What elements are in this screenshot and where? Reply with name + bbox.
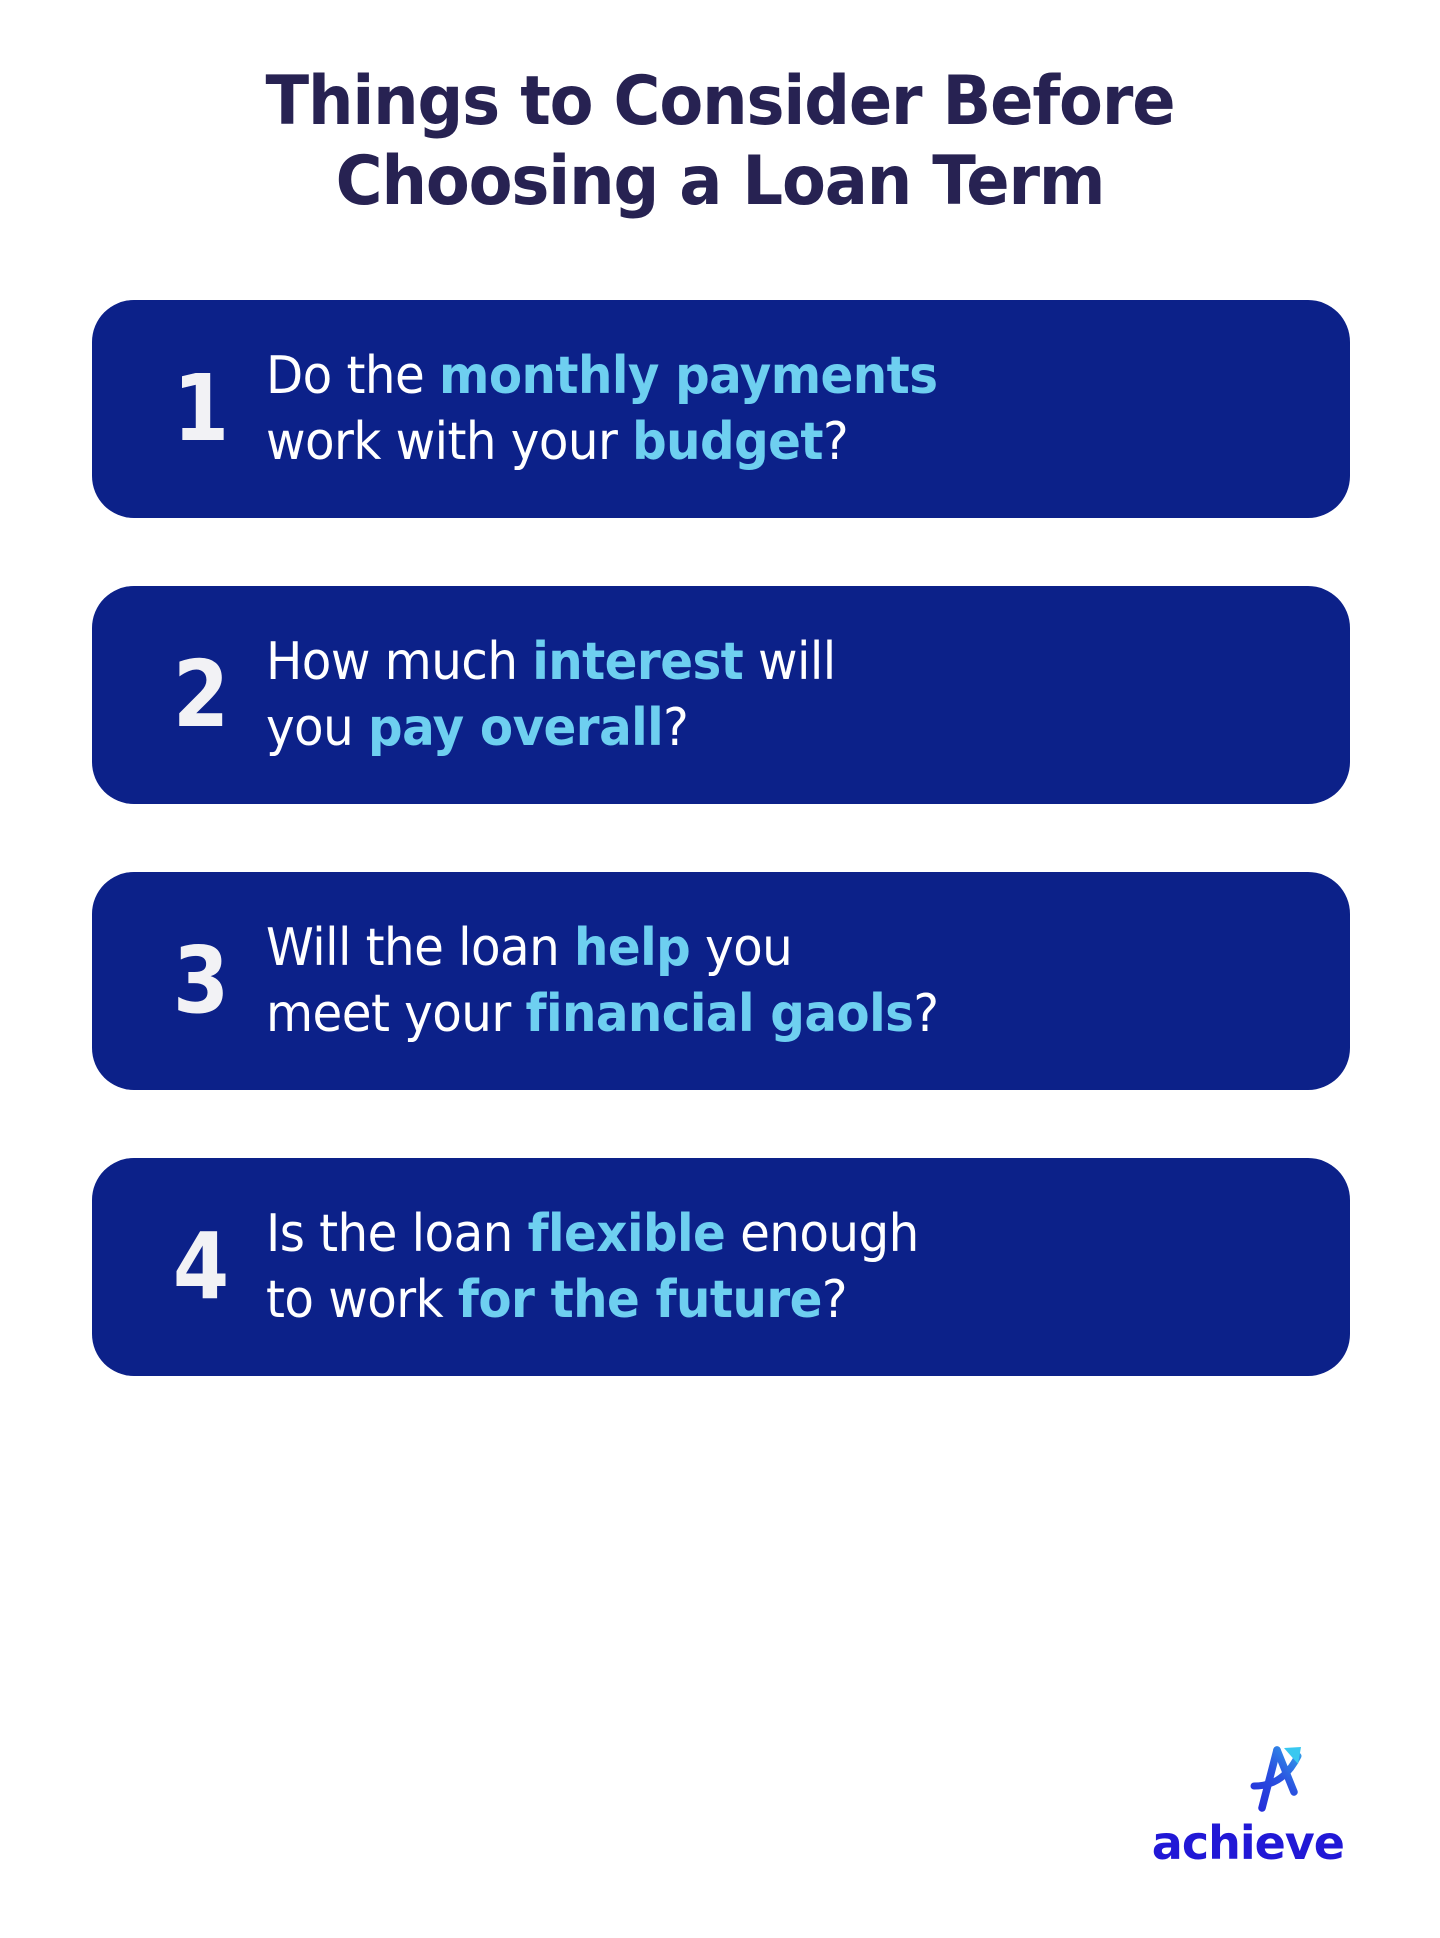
- plain-phrase: Is the loan: [266, 1204, 528, 1264]
- achieve-wordmark: achieve: [1152, 1820, 1344, 1866]
- plain-phrase: Will the loan: [266, 918, 574, 978]
- plain-phrase: How much: [266, 632, 532, 692]
- card-number: 1: [144, 363, 258, 455]
- plain-phrase: you: [266, 698, 368, 758]
- plain-phrase: will: [743, 632, 835, 692]
- card-question-text: Is the loan flexible enoughto work for t…: [266, 1201, 1250, 1334]
- card-text-line-1: Will the loan help you: [266, 915, 1250, 982]
- card-text-line-2: to work for the future?: [266, 1267, 1250, 1334]
- card-number: 2: [144, 649, 258, 741]
- consideration-card: 2How much interest willyou pay overall?: [92, 586, 1350, 804]
- card-question-text: How much interest willyou pay overall?: [266, 629, 1250, 762]
- card-text-line-1: Is the loan flexible enough: [266, 1201, 1250, 1268]
- card-text-line-2: meet your financial gaols?: [266, 981, 1250, 1048]
- card-number: 4: [144, 1221, 258, 1313]
- highlighted-phrase: budget: [632, 412, 823, 472]
- consideration-card: 3Will the loan help youmeet your financi…: [92, 872, 1350, 1090]
- brand-logo: achieve: [1152, 1736, 1344, 1866]
- infographic-page: Things to Consider Before Choosing a Loa…: [0, 0, 1440, 1938]
- plain-phrase: meet your: [266, 984, 525, 1044]
- card-text-line-1: Do the monthly payments: [266, 343, 1250, 410]
- plain-phrase: enough: [725, 1204, 918, 1264]
- highlighted-phrase: flexible: [528, 1204, 726, 1264]
- plain-phrase: to work: [266, 1270, 458, 1330]
- highlighted-phrase: for the future: [458, 1270, 822, 1330]
- highlighted-phrase: interest: [532, 632, 743, 692]
- plain-phrase: ?: [822, 1270, 847, 1330]
- achieve-a-arrow-icon: [1232, 1736, 1310, 1814]
- title-line-1: Things to Consider Before: [165, 62, 1274, 142]
- plain-phrase: you: [690, 918, 792, 978]
- highlighted-phrase: monthly payments: [439, 346, 937, 406]
- plain-phrase: Do the: [266, 346, 439, 406]
- highlighted-phrase: financial gaols: [525, 984, 913, 1044]
- card-text-line-2: you pay overall?: [266, 695, 1250, 762]
- consideration-card: 1Do the monthly paymentswork with your b…: [92, 300, 1350, 518]
- plain-phrase: ?: [663, 698, 688, 758]
- card-question-text: Do the monthly paymentswork with your bu…: [266, 343, 1250, 476]
- card-text-line-1: How much interest will: [266, 629, 1250, 696]
- consideration-card-list: 1Do the monthly paymentswork with your b…: [0, 300, 1440, 1376]
- card-text-line-2: work with your budget?: [266, 409, 1250, 476]
- consideration-card: 4Is the loan flexible enoughto work for …: [92, 1158, 1350, 1376]
- highlighted-phrase: pay overall: [368, 698, 663, 758]
- page-title: Things to Consider Before Choosing a Loa…: [0, 0, 1440, 222]
- card-number: 3: [144, 935, 258, 1027]
- title-heading: Things to Consider Before Choosing a Loa…: [165, 62, 1274, 222]
- highlighted-phrase: help: [574, 918, 690, 978]
- plain-phrase: ?: [913, 984, 938, 1044]
- plain-phrase: ?: [823, 412, 848, 472]
- plain-phrase: work with your: [266, 412, 632, 472]
- card-question-text: Will the loan help youmeet your financia…: [266, 915, 1250, 1048]
- title-line-2: Choosing a Loan Term: [165, 142, 1274, 222]
